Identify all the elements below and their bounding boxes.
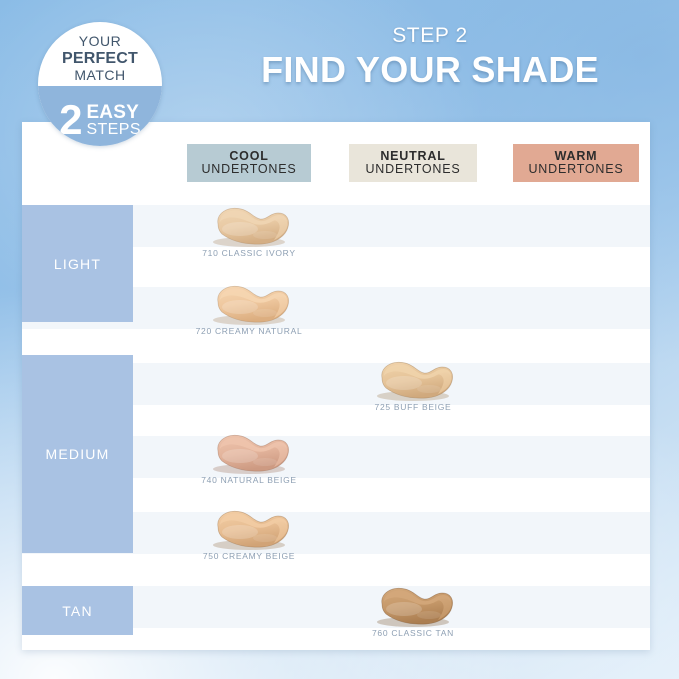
shade-swatch-710[interactable]: 710 CLASSIC IVORY [174,203,324,258]
foundation-smear-icon [174,203,324,247]
shade-label-760: 760 CLASSIC TAN [338,628,488,638]
badge-line-your: YOUR [38,34,162,50]
column-header-neutral-subtitle: UNDERTONES [365,163,460,177]
shade-swatch-760[interactable]: 760 CLASSIC TAN [338,583,488,638]
foundation-smear-icon [338,583,488,627]
tone-box-tan-label: TAN [62,603,93,619]
tone-box-medium-label: MEDIUM [46,446,110,462]
foundation-smear-icon [174,430,324,474]
column-header-neutral[interactable]: NEUTRALUNDERTONES [349,144,477,182]
badge-bottom-text: 2 EASY STEPS [38,100,162,140]
column-header-warm-title: WARM [555,150,598,164]
badge-line-perfect: PERFECT [38,50,162,68]
shade-swatch-720[interactable]: 720 CREAMY NATURAL [174,281,324,336]
shade-swatch-725[interactable]: 725 BUFF BEIGE [338,357,488,412]
foundation-smear-icon [174,506,324,550]
column-header-cool-subtitle: UNDERTONES [201,163,296,177]
step-label: STEP 2 [200,24,660,47]
badge-step-words: EASY STEPS [86,103,140,138]
tone-box-tan[interactable]: TAN [22,586,133,635]
badge-top-text: YOUR PERFECT MATCH [38,34,162,83]
foundation-smear-icon [174,281,324,325]
badge-word-steps: STEPS [86,122,140,138]
perfect-match-badge: YOUR PERFECT MATCH 2 EASY STEPS [38,22,162,146]
tone-box-medium[interactable]: MEDIUM [22,355,133,553]
shade-swatch-740[interactable]: 740 NATURAL BEIGE [174,430,324,485]
column-header-warm-subtitle: UNDERTONES [528,163,623,177]
column-header-warm[interactable]: WARMUNDERTONES [513,144,639,182]
shade-label-720: 720 CREAMY NATURAL [174,326,324,336]
page-title-block: STEP 2 FIND YOUR SHADE [200,24,660,90]
shade-label-740: 740 NATURAL BEIGE [174,475,324,485]
column-header-cool[interactable]: COOLUNDERTONES [187,144,311,182]
badge-step-number: 2 [59,100,82,140]
tone-box-light[interactable]: LIGHT [22,205,133,322]
badge-line-match: MATCH [38,68,162,84]
column-header-cool-title: COOL [229,150,268,164]
shade-label-750: 750 CREAMY BEIGE [174,551,324,561]
tone-box-light-label: LIGHT [54,256,101,272]
shade-label-725: 725 BUFF BEIGE [338,402,488,412]
page-title: FIND YOUR SHADE [200,49,660,90]
foundation-smear-icon [338,357,488,401]
badge-word-easy: EASY [86,103,140,122]
shade-swatch-750[interactable]: 750 CREAMY BEIGE [174,506,324,561]
shade-label-710: 710 CLASSIC IVORY [174,248,324,258]
column-header-neutral-title: NEUTRAL [380,150,445,164]
